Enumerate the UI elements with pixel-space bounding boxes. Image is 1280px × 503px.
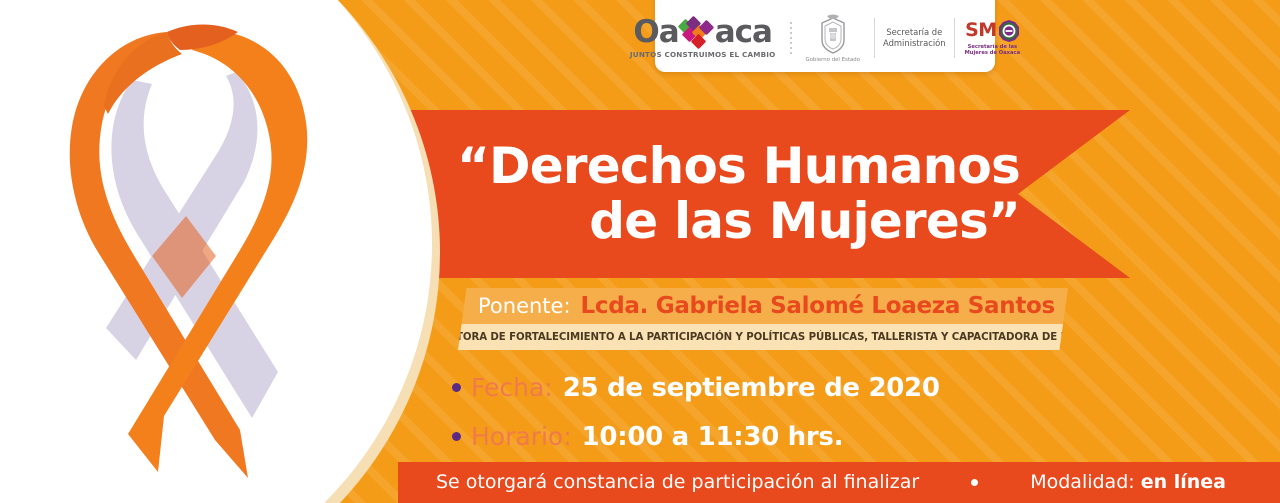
modality-label: Modalidad: (1030, 471, 1134, 493)
oaxaca-word-left: Oa (633, 17, 678, 48)
speaker-name: Lcda. Gabriela Salomé Loaeza Santos (581, 295, 1055, 318)
oaxaca-word-right: aca (715, 17, 772, 48)
awareness-ribbon-icon (40, 10, 370, 480)
institutional-logo-plate: Oa aca JUNTOS CONSTRUIMOS EL CAMBIO (655, 0, 995, 72)
horario-label: Horario: (471, 424, 572, 449)
title-line-2: de las Mujeres” (589, 194, 1020, 249)
title-line-1: “Derechos Humanos (457, 139, 1020, 194)
oaxaca-logo: Oa aca JUNTOS CONSTRUIMOS EL CAMBIO (630, 17, 784, 59)
bullet-icon-horario (452, 432, 461, 441)
poster-canvas: “Derechos Humanos de las Mujeres” Oa (0, 0, 1280, 503)
fecha-value: 25 de septiembre de 2020 (563, 375, 940, 401)
state-shield-caption: Gobierno del Estado (805, 57, 860, 63)
speaker-label: Ponente: (478, 296, 571, 317)
footer-bar: Se otorgará constancia de participación … (398, 462, 1280, 503)
oaxaca-diamonds-icon (680, 18, 714, 48)
horario-value: 10:00 a 11:30 hrs. (582, 424, 844, 450)
footer-separator-dot-icon (971, 479, 978, 486)
state-shield-logo: Gobierno del Estado (799, 14, 866, 63)
smo-letters: SM (965, 21, 997, 40)
divider-left (874, 18, 875, 58)
speaker-name-row: Ponente: Lcda. Gabriela Salomé Loaeza Sa… (458, 288, 1068, 324)
secretaria-line-2: Administración (883, 38, 946, 49)
smo-tagline: Secretaría de las Mujeres de Oaxaca (965, 44, 1021, 57)
fecha-label: Fecha: (471, 375, 553, 400)
speaker-subtitle: DIRECTORA DE FORTALECIMIENTO A LA PARTIC… (458, 324, 1068, 350)
smo-logo: SM Secretaría de las Mujeres de Oaxaca (963, 20, 1021, 57)
oaxaca-tagline: JUNTOS CONSTRUIMOS EL CAMBIO (630, 50, 776, 59)
detail-row-horario: Horario: 10:00 a 11:30 hrs. (452, 424, 843, 450)
footer-modality: Modalidad: en línea (1030, 473, 1226, 492)
speaker-band: Ponente: Lcda. Gabriela Salomé Loaeza Sa… (458, 288, 1068, 350)
smo-circle-icon (998, 20, 1020, 42)
bullet-icon-fecha (452, 383, 461, 392)
secretaria-administracion-label: Secretaría de Administración (883, 27, 946, 50)
footer-note: Se otorgará constancia de participación … (436, 473, 919, 492)
gobierno-del-estado-shield-icon (816, 14, 850, 56)
secretaria-line-1: Secretaría de (883, 27, 946, 38)
dot-separator (783, 22, 799, 54)
modality-value: en línea (1141, 471, 1226, 493)
detail-row-fecha: Fecha: 25 de septiembre de 2020 (452, 375, 940, 401)
smo-tagline-line-1: Secretaría de las (968, 44, 1017, 50)
smo-tagline-line-2: Mujeres de Oaxaca (965, 50, 1021, 56)
divider-right (954, 18, 955, 58)
